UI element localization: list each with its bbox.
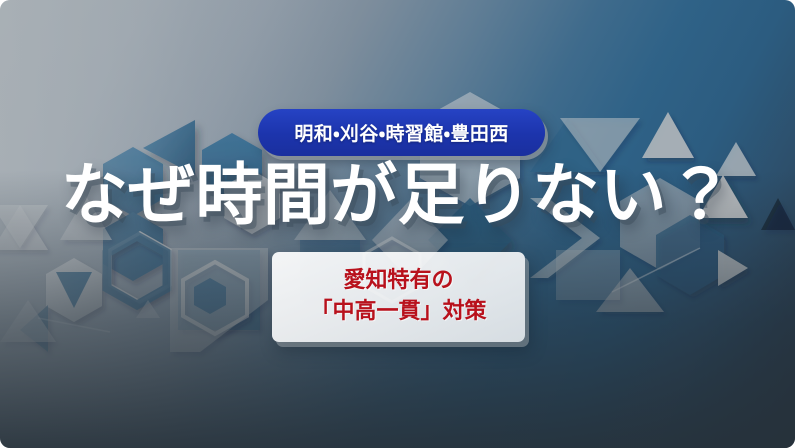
- school-badge: 明和・刈谷・時習館・豊田西: [258, 109, 545, 156]
- subtitle-line-2: 「中高一貫」対策: [310, 299, 486, 326]
- subtitle-line-1: 愛知特有の: [343, 268, 453, 295]
- shape-triangle-gray-right-arrow: [718, 250, 748, 286]
- shape-polygon-gray-right-slab: [556, 250, 620, 300]
- shape-triangle-gray-topright: [642, 112, 694, 158]
- school-badge-label: 明和・刈谷・時習館・豊田西: [294, 119, 508, 146]
- school-badge-pill: 明和・刈谷・時習館・豊田西: [258, 109, 545, 156]
- subtitle-card: 愛知特有の 「中高一貫」対策: [272, 252, 525, 342]
- presentation-slide: 明和・刈谷・時習館・豊田西 なぜ時間が足りない？ 愛知特有の 「中高一貫」対策: [0, 0, 795, 448]
- slide-headline: なぜ時間が足りない？: [0, 162, 795, 229]
- shape-hexagon-gray-bottomleft: [46, 258, 102, 322]
